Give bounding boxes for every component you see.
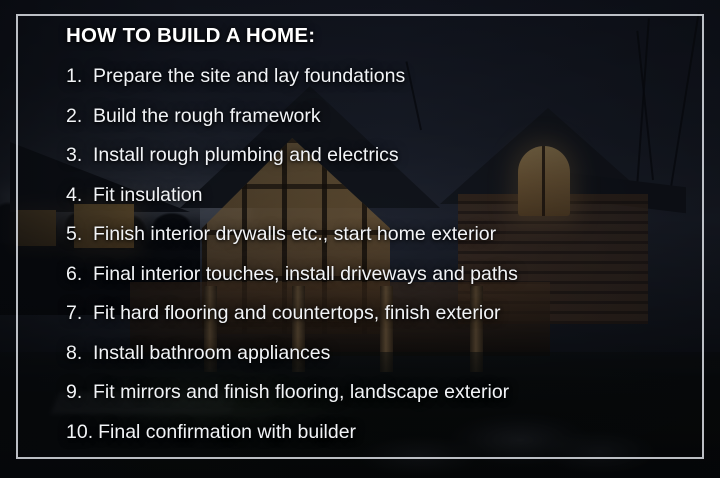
list-item: 9.Fit mirrors and finish flooring, lands… <box>66 383 690 423</box>
list-item: 1.Prepare the site and lay foundations <box>66 67 690 107</box>
step-text: Final interior touches, install driveway… <box>93 265 518 285</box>
step-text: Prepare the site and lay foundations <box>93 67 405 87</box>
list-item: 8.Install bathroom appliances <box>66 344 690 384</box>
list-item: 6.Final interior touches, install drivew… <box>66 265 690 305</box>
step-number: 8. <box>66 344 88 364</box>
step-number: 9. <box>66 383 88 403</box>
list-item: 3.Install rough plumbing and electrics <box>66 146 690 186</box>
step-number: 7. <box>66 304 88 324</box>
list-item: 10.Final confirmation with builder <box>66 423 690 463</box>
step-number: 3. <box>66 146 88 166</box>
step-number: 4. <box>66 186 88 206</box>
list-item: 2.Build the rough framework <box>66 107 690 147</box>
list-item: 5.Finish interior drywalls etc., start h… <box>66 225 690 265</box>
step-number: 5. <box>66 225 88 245</box>
step-text: Finish interior drywalls etc., start hom… <box>93 225 496 245</box>
step-number: 10. <box>66 423 93 443</box>
infographic-canvas: HOW TO BUILD A HOME: 1.Prepare the site … <box>0 0 720 478</box>
step-text: Install rough plumbing and electrics <box>93 146 399 166</box>
step-text: Install bathroom appliances <box>93 344 330 364</box>
list-item: 7.Fit hard flooring and countertops, fin… <box>66 304 690 344</box>
content-area: HOW TO BUILD A HOME: 1.Prepare the site … <box>66 24 690 456</box>
step-number: 6. <box>66 265 88 285</box>
step-text: Build the rough framework <box>93 107 321 127</box>
steps-list: 1.Prepare the site and lay foundations2.… <box>66 67 690 462</box>
step-text: Fit insulation <box>93 186 202 206</box>
step-text: Fit hard flooring and countertops, finis… <box>93 304 501 324</box>
step-text: Fit mirrors and finish flooring, landsca… <box>93 383 509 403</box>
step-number: 1. <box>66 67 88 87</box>
step-number: 2. <box>66 107 88 127</box>
step-text: Final confirmation with builder <box>98 423 356 443</box>
page-title: HOW TO BUILD A HOME: <box>66 24 690 48</box>
list-item: 4.Fit insulation <box>66 186 690 226</box>
